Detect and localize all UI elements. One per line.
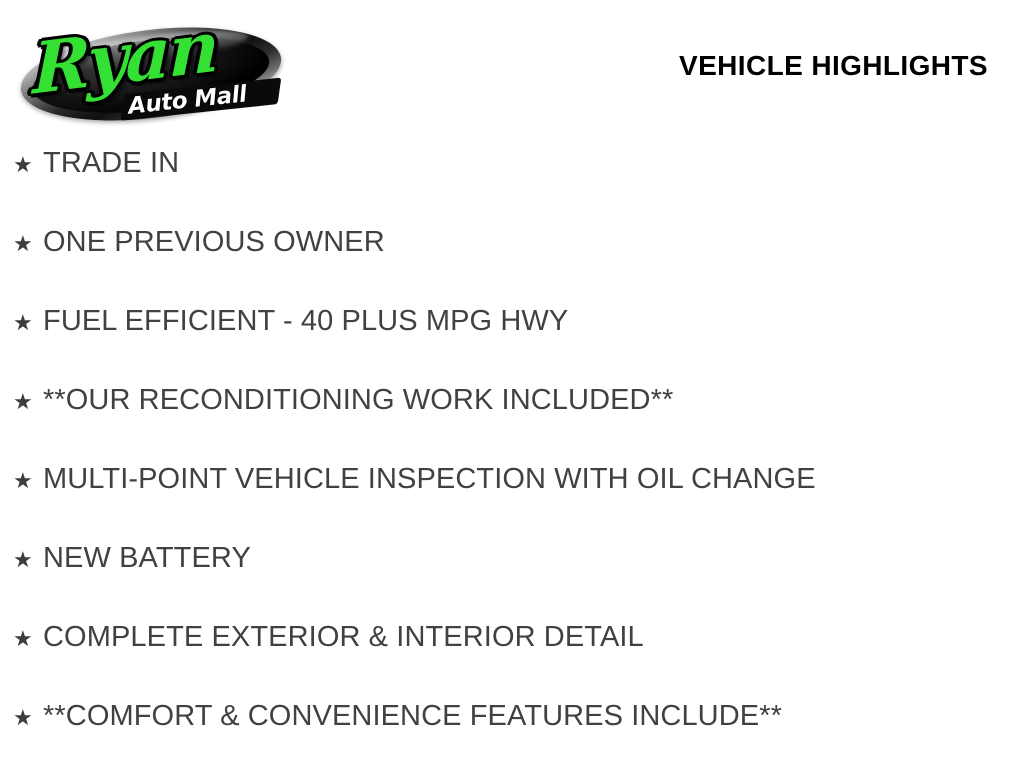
star-icon: ★: [13, 625, 43, 655]
list-item: ★ TRADE IN: [0, 148, 1024, 227]
list-item: ★ MULTI-POINT VEHICLE INSPECTION WITH OI…: [0, 464, 1024, 543]
list-item: ★ ONE PREVIOUS OWNER: [0, 227, 1024, 306]
highlight-label: COMPLETE EXTERIOR & INTERIOR DETAIL: [43, 622, 644, 652]
highlight-label: MULTI-POINT VEHICLE INSPECTION WITH OIL …: [43, 464, 816, 494]
page-header: Ryan Auto Mall VEHICLE HIGHLIGHTS: [0, 0, 1024, 140]
list-item: ★ **COMFORT & CONVENIENCE FEATURES INCLU…: [0, 701, 1024, 780]
page-title: VEHICLE HIGHLIGHTS: [679, 49, 988, 83]
list-item: ★ FUEL EFFICIENT - 40 PLUS MPG HWY: [0, 306, 1024, 385]
star-icon: ★: [13, 704, 43, 734]
highlight-label: **OUR RECONDITIONING WORK INCLUDED**: [43, 385, 673, 415]
highlight-label: TRADE IN: [43, 148, 179, 178]
vehicle-highlights-page: Ryan Auto Mall VEHICLE HIGHLIGHTS ★ TRAD…: [0, 0, 1024, 768]
highlight-label: FUEL EFFICIENT - 40 PLUS MPG HWY: [43, 306, 568, 336]
highlight-label: NEW BATTERY: [43, 543, 251, 573]
highlight-label: **COMFORT & CONVENIENCE FEATURES INCLUDE…: [43, 701, 782, 731]
star-icon: ★: [13, 546, 43, 576]
star-icon: ★: [13, 309, 43, 339]
highlight-label: ONE PREVIOUS OWNER: [43, 227, 385, 257]
star-icon: ★: [13, 467, 43, 497]
vehicle-highlights-list: ★ TRADE IN ★ ONE PREVIOUS OWNER ★ FUEL E…: [0, 148, 1024, 780]
list-item: ★ **OUR RECONDITIONING WORK INCLUDED**: [0, 385, 1024, 464]
ryan-auto-mall-logo: Ryan Auto Mall: [14, 10, 290, 128]
list-item: ★ NEW BATTERY: [0, 543, 1024, 622]
star-icon: ★: [13, 151, 43, 181]
list-item: ★ COMPLETE EXTERIOR & INTERIOR DETAIL: [0, 622, 1024, 701]
star-icon: ★: [13, 230, 43, 260]
star-icon: ★: [13, 388, 43, 418]
